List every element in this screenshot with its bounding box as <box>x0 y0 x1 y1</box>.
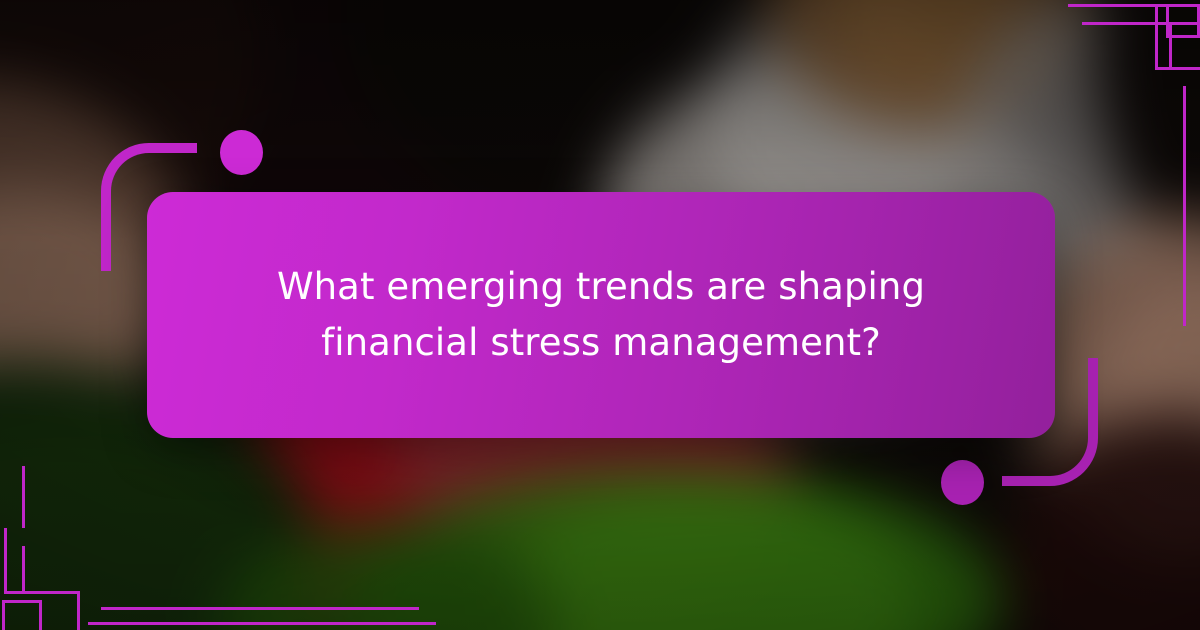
circuit-line-icon <box>77 591 80 630</box>
headline-card: What emerging trends are shaping financi… <box>147 192 1055 438</box>
page-title: What emerging trends are shaping financi… <box>231 259 971 371</box>
share-card-canvas: What emerging trends are shaping financi… <box>0 0 1200 630</box>
circuit-node-square-icon <box>2 600 42 630</box>
circuit-line-icon <box>101 607 419 610</box>
circuit-line-icon <box>88 622 436 625</box>
circuit-line-icon <box>22 466 25 528</box>
circuit-line-icon <box>1155 67 1200 70</box>
circuit-line-icon <box>4 591 80 594</box>
circle-dot-icon <box>220 130 263 175</box>
circuit-node-square-icon <box>1166 4 1200 38</box>
circuit-line-icon <box>1183 86 1186 326</box>
circle-dot-icon <box>941 460 984 505</box>
circuit-line-icon <box>1155 4 1158 70</box>
circuit-line-icon <box>4 528 7 594</box>
circuit-line-icon <box>22 546 25 594</box>
